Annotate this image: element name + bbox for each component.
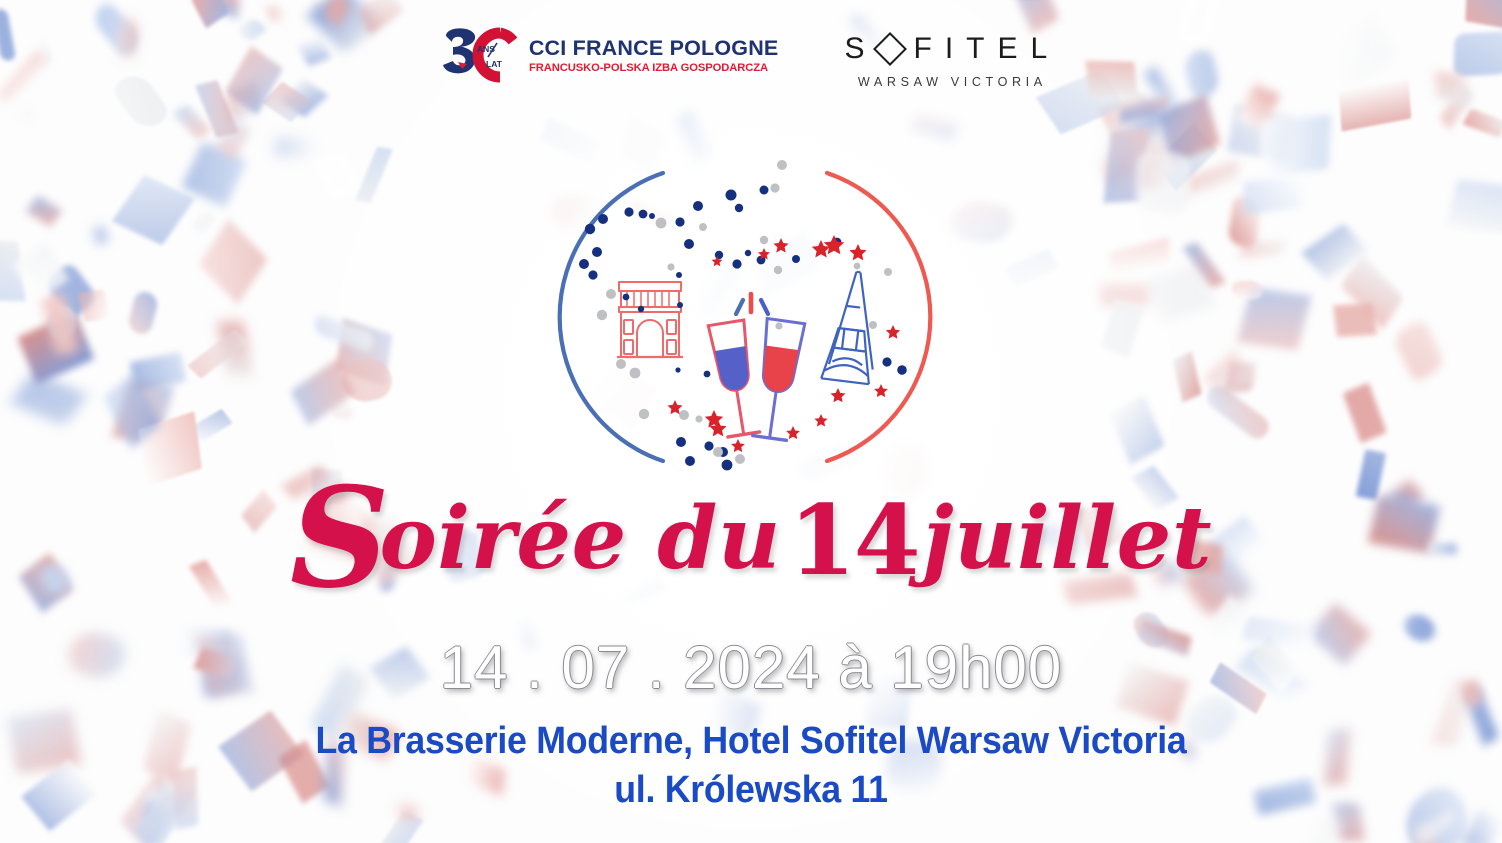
emblem-artwork <box>551 152 951 482</box>
logo-bar: ANS LAT CCI FRANCE POLOGNE FRANCUSKO-POL… <box>0 26 1502 89</box>
title-number-14: 14 <box>789 484 919 597</box>
event-date-time: 14 . 07 . 2024 à 19h00 <box>0 633 1502 704</box>
diamond-o-icon <box>873 32 907 66</box>
sofitel-logo: S FITEL WARSAW VICTORIA <box>844 34 1060 89</box>
title-text-after: juillet <box>923 488 1213 589</box>
event-poster: ANS LAT CCI FRANCE POLOGNE FRANCUSKO-POL… <box>0 0 1502 843</box>
event-venue: La Brasserie Moderne, Hotel Sofitel Wars… <box>0 717 1502 814</box>
sofitel-property-name: WARSAW VICTORIA <box>858 75 1047 89</box>
thirty-years-anniversary-icon: ANS LAT <box>442 26 520 86</box>
sofitel-wordmark: S FITEL <box>844 34 1060 64</box>
cci-france-pologne-logo: ANS LAT CCI FRANCE POLOGNE FRANCUSKO-POL… <box>442 26 779 86</box>
cci-logo-title: CCI FRANCE POLOGNE <box>529 38 779 60</box>
svg-text:LAT: LAT <box>486 59 503 69</box>
sofitel-letters-fitel: FITEL <box>914 34 1061 64</box>
page-title: Soirée du14juillet <box>0 487 1502 583</box>
venue-line-1: La Brasserie Moderne, Hotel Sofitel Wars… <box>45 717 1457 766</box>
champagne-glasses-icon <box>708 294 805 441</box>
arc-de-triomphe-icon <box>617 282 683 357</box>
title-text-before: oirée du <box>380 488 781 589</box>
cci-logo-subtitle: FRANCUSKO-POLSKA IZBA GOSPODARCZA <box>529 63 775 74</box>
title-initial-s: S <box>290 456 386 619</box>
paris-celebration-emblem <box>551 152 951 482</box>
venue-line-2: ul. Królewska 11 <box>45 766 1457 815</box>
